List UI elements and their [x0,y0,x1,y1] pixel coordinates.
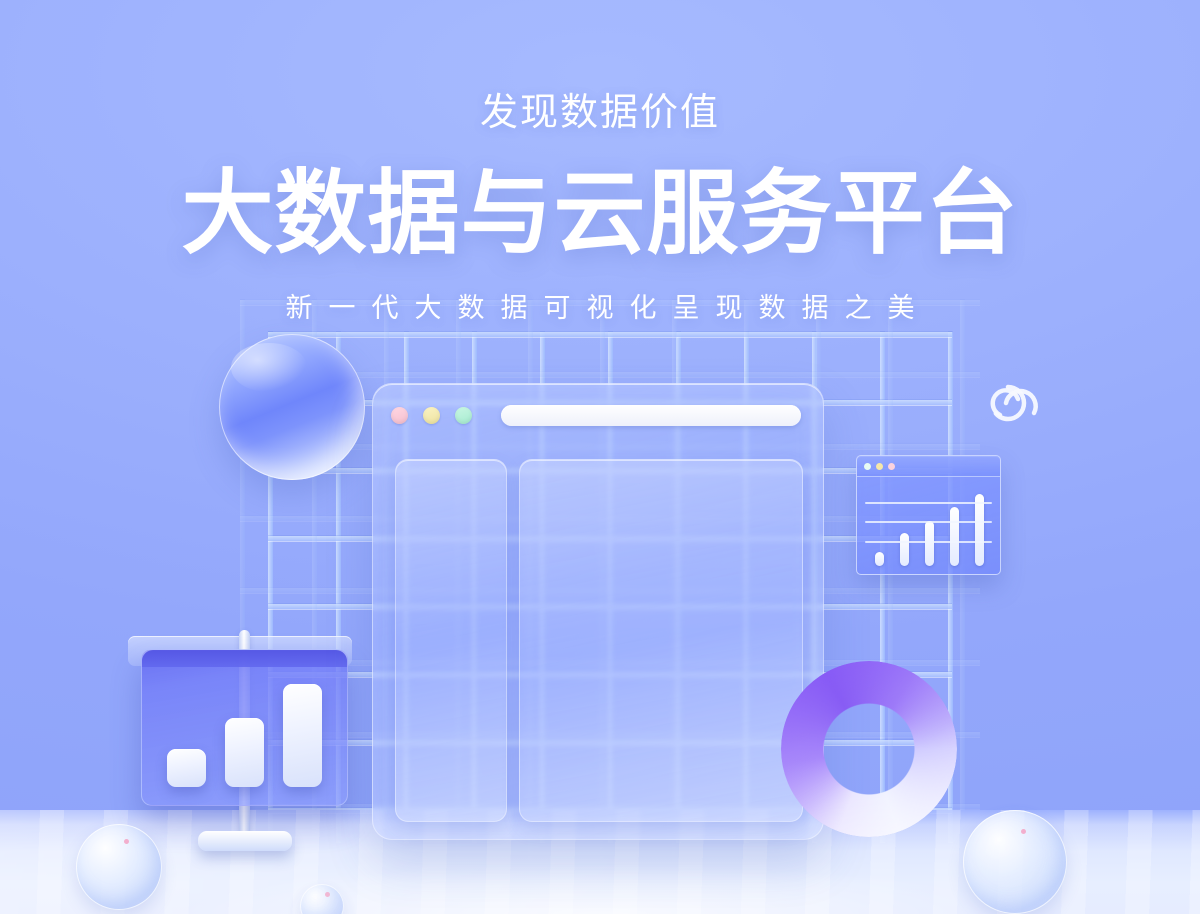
hero-eyebrow: 发现数据价值 [0,94,1200,132]
page-title: 大数据与云服务平台 [0,166,1200,263]
chart-bar [975,494,984,566]
monitor-stand-base [198,831,292,851]
mini-chart-bars [867,485,992,566]
minimize-dot-icon[interactable] [423,407,440,424]
close-dot-icon[interactable] [391,407,408,424]
close-dot-icon[interactable] [864,463,871,470]
hero-banner: 发现数据价值 大数据与云服务平台 新一代大数据可视化呈现数据之美 [0,0,1200,914]
panel-screen [141,649,348,806]
chart-bar [900,533,909,566]
content-pane[interactable] [519,459,803,822]
maximize-dot-icon[interactable] [888,463,895,470]
chart-bar [167,749,206,787]
glass-bubble-left [76,824,162,910]
sphere-gradient-large [219,334,365,480]
donut-ring-chart [781,661,957,837]
mini-chart-window[interactable] [856,455,1001,575]
minimize-dot-icon[interactable] [876,463,883,470]
chart-bar [283,684,322,787]
chart-gridline [865,521,992,523]
chart-gridline [865,502,992,504]
chart-bar [875,552,884,566]
sidebar-pane[interactable] [395,459,507,822]
bar-chart-display-panel [128,636,360,868]
glass-bubble-right [963,810,1067,914]
chart-bar [950,507,959,566]
cloud-outline-icon [978,367,1058,431]
panel-header-bar [142,650,347,667]
mini-chart-plot [857,477,1000,574]
chart-bar [925,521,934,566]
hero-subtitle: 新一代大数据可视化呈现数据之美 [0,295,1200,322]
left-panel-bars [158,678,331,787]
grid-line-vertical [960,300,965,860]
chart-gridline [865,541,992,543]
chart-bar [225,718,264,787]
mini-window-titlebar [857,456,1000,477]
address-bar-input[interactable] [501,405,801,426]
window-titlebar [373,384,823,446]
maximize-dot-icon[interactable] [455,407,472,424]
main-browser-window[interactable] [372,383,824,840]
